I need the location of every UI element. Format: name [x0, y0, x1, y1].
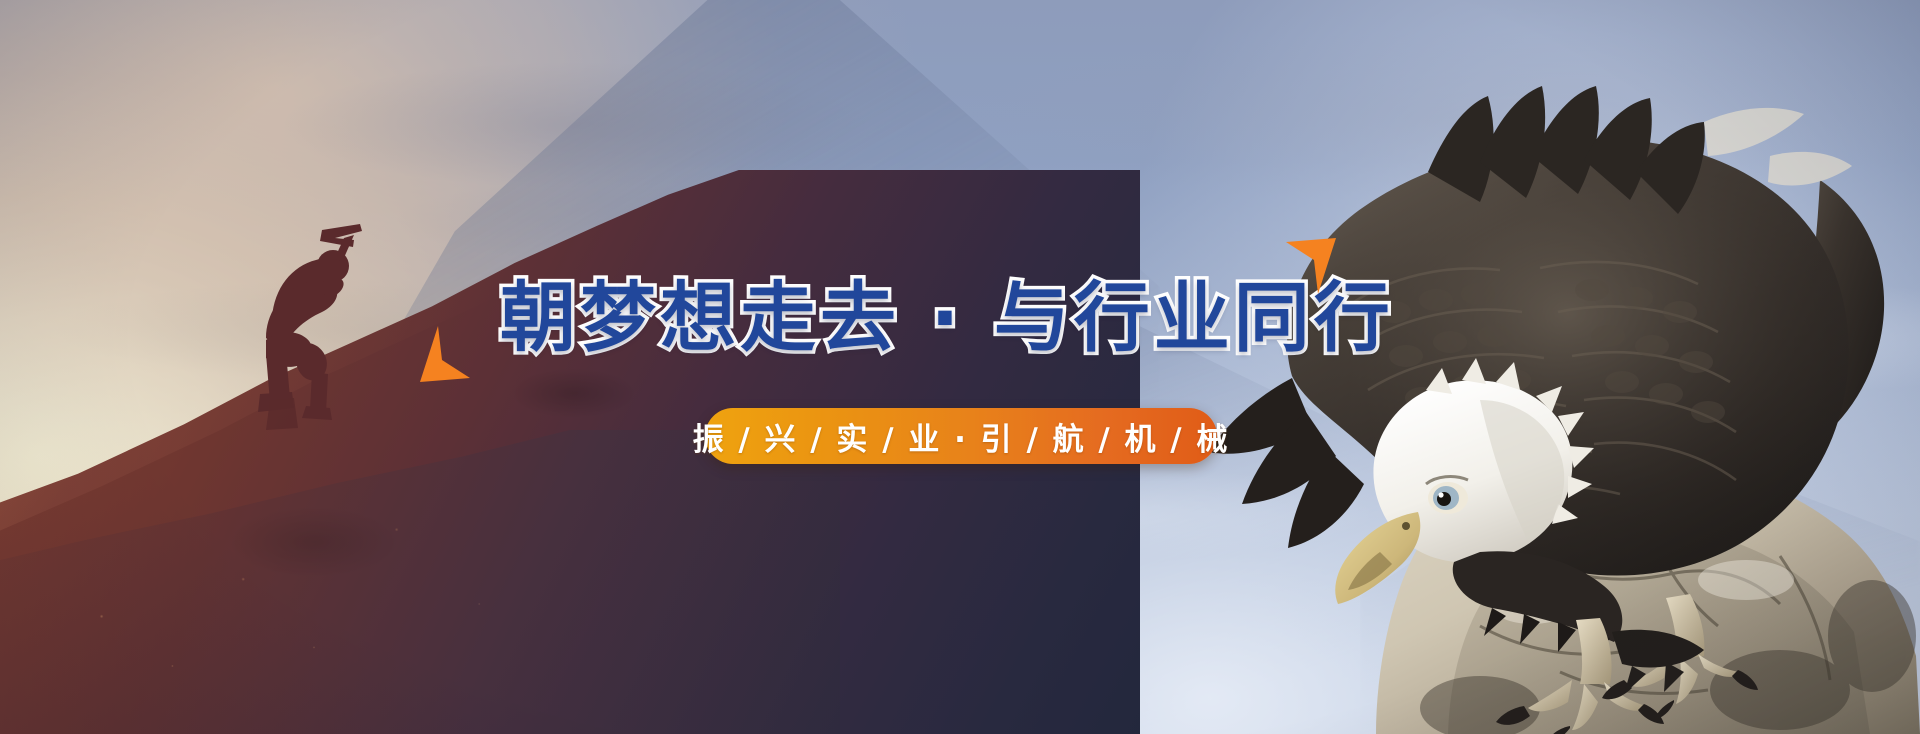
- corner-accent-icon: [1284, 236, 1338, 296]
- banner-headline: 朝梦想走去 · 与行业同行: [500, 272, 1260, 364]
- subtitle-pill: 振 / 兴 / 实 / 业 · 引 / 航 / 机 / 械: [705, 408, 1217, 464]
- eagle-illustration: [1180, 60, 1920, 734]
- subtitle-text: 振 / 兴 / 实 / 业 · 引 / 航 / 机 / 械: [693, 414, 1230, 459]
- climber-silhouette: [236, 222, 406, 442]
- hero-banner: 朝梦想走去 · 与行业同行 振 / 兴 / 实 / 业 · 引 / 航 / 机 …: [0, 0, 1920, 734]
- corner-accent-icon-secondary: [418, 324, 472, 384]
